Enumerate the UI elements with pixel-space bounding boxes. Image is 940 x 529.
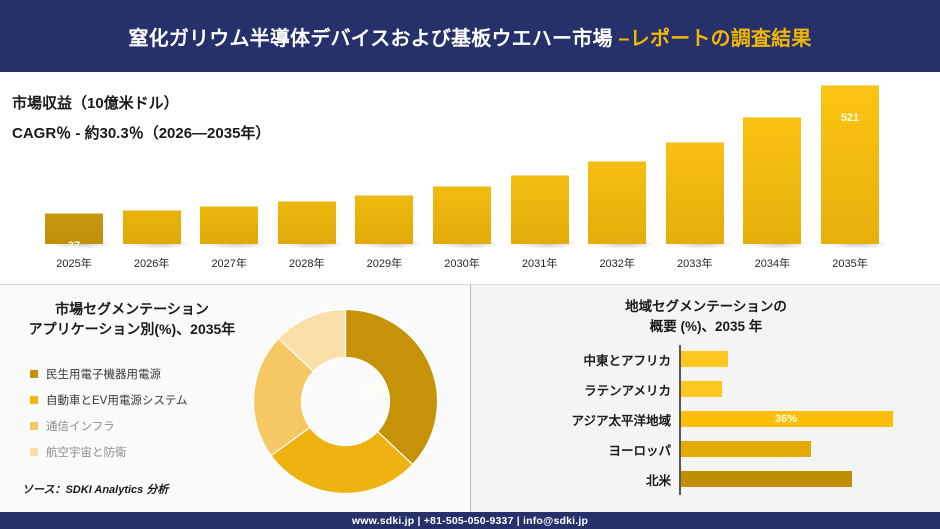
- bar-rect: [588, 161, 646, 244]
- region-row: 北米: [471, 465, 940, 495]
- legend-item: 通信インフラ: [30, 413, 240, 439]
- bar-category-label: 2028年: [269, 255, 345, 271]
- application-segmentation-panel: 市場セグメンテーション アプリケーション別(%)、2035年 民生用電子機器用電…: [0, 284, 470, 512]
- bar-category-label: 2031年: [502, 255, 578, 271]
- bar-rect: [511, 175, 569, 244]
- region-bar-series: 中東とアフリカラテンアメリカアジア太平洋地域36%ヨーロッパ北米: [471, 345, 940, 500]
- donut-slice: [346, 310, 438, 465]
- bar-rect: [666, 142, 724, 244]
- bar-category-label: 2026年: [114, 255, 190, 271]
- region-bar: [681, 351, 728, 367]
- pie-title-line1: 市場セグメンテーション: [6, 299, 258, 319]
- bar-rect: [200, 206, 258, 244]
- region-bar: [681, 441, 811, 457]
- region-row: ラテンアメリカ: [471, 375, 940, 405]
- region-bar: [681, 471, 852, 487]
- bar-value-label: 521: [821, 112, 879, 124]
- region-row: ヨーロッパ: [471, 435, 940, 465]
- donut-chart: 37%: [243, 299, 448, 504]
- bar-category-label: 2035年: [812, 255, 888, 271]
- region-value-label: 36%: [775, 413, 797, 425]
- bar-rect: [743, 117, 801, 244]
- region-title-line2: 概要 (%)、2035 年: [471, 317, 940, 337]
- bar-category-label: 2030年: [424, 255, 500, 271]
- region-label: ヨーロッパ: [471, 440, 671, 459]
- infographic-page: 窒化ガリウム半導体デバイスおよび基板ウエハー市場 –レポートの調査結果 市場収益…: [0, 0, 940, 529]
- region-label: 中東とアフリカ: [471, 350, 671, 369]
- legend-item: 航空宇宙と防衛: [30, 439, 240, 465]
- revenue-bar-chart: 市場収益（10億米ドル） CAGR％ - 約30.3％（2026―2035年） …: [0, 72, 940, 284]
- donut-svg: [243, 299, 448, 504]
- region-label: ラテンアメリカ: [471, 380, 671, 399]
- bar-category-label: 2025年: [36, 255, 112, 271]
- bar-rect: [123, 210, 181, 244]
- region-row: アジア太平洋地域36%: [471, 405, 940, 435]
- legend-label: 民生用電子機器用電源: [46, 366, 161, 382]
- bar-category-label: 2027年: [191, 255, 267, 271]
- bar-category-label: 2034年: [734, 255, 810, 271]
- pie-chart-title: 市場セグメンテーション アプリケーション別(%)、2035年: [6, 299, 258, 340]
- legend-swatch-icon: [30, 422, 38, 430]
- page-title-main: 窒化ガリウム半導体デバイスおよび基板ウエハー市場: [128, 28, 618, 50]
- region-label: アジア太平洋地域: [471, 410, 671, 429]
- region-bar: [681, 381, 722, 397]
- bar-rect: [355, 195, 413, 244]
- legend-label: 航空宇宙と防衛: [46, 444, 127, 460]
- header-banner: 窒化ガリウム半導体デバイスおよび基板ウエハー市場 –レポートの調査結果: [0, 0, 940, 72]
- donut-value-label: 37%: [363, 383, 389, 398]
- footer-contact: www.sdki.jp | +81-505-050-9337 | info@sd…: [352, 515, 588, 527]
- page-title-accent: –レポートの調査結果: [618, 28, 811, 50]
- legend-swatch-icon: [30, 396, 38, 404]
- bar-rect: [278, 201, 336, 244]
- bar-value-label: 37: [45, 240, 103, 252]
- pie-title-line2: アプリケーション別(%)、2035年: [6, 319, 258, 339]
- legend-label: 通信インフラ: [46, 418, 115, 434]
- bar-category-label: 2033年: [657, 255, 733, 271]
- bar-category-label: 2032年: [579, 255, 655, 271]
- bar-series: 372025年2026年2027年2028年2029年2030年2031年203…: [0, 72, 940, 284]
- footer-banner: www.sdki.jp | +81-505-050-9337 | info@sd…: [0, 512, 940, 529]
- pie-legend: 民生用電子機器用電源自動車とEV用電源システム通信インフラ航空宇宙と防衛: [30, 361, 240, 465]
- region-label: 北米: [471, 470, 671, 489]
- region-title-line1: 地域セグメンテーションの: [471, 297, 940, 317]
- page-title: 窒化ガリウム半導体デバイスおよび基板ウエハー市場 –レポートの調査結果: [128, 22, 811, 51]
- bar-rect: [433, 186, 491, 244]
- bar-rect: [821, 85, 879, 244]
- region-chart-title: 地域セグメンテーションの 概要 (%)、2035 年: [471, 297, 940, 338]
- legend-item: 自動車とEV用電源システム: [30, 387, 240, 413]
- legend-item: 民生用電子機器用電源: [30, 361, 240, 387]
- bar-category-label: 2029年: [346, 255, 422, 271]
- source-note: ソース：SDKI Analytics 分析: [22, 481, 168, 497]
- region-row: 中東とアフリカ: [471, 345, 940, 375]
- legend-label: 自動車とEV用電源システム: [46, 392, 188, 408]
- legend-swatch-icon: [30, 448, 38, 456]
- region-segmentation-panel: 地域セグメンテーションの 概要 (%)、2035 年 中東とアフリカラテンアメリ…: [470, 284, 940, 512]
- legend-swatch-icon: [30, 370, 38, 378]
- bottom-panels: 市場セグメンテーション アプリケーション別(%)、2035年 民生用電子機器用電…: [0, 284, 940, 512]
